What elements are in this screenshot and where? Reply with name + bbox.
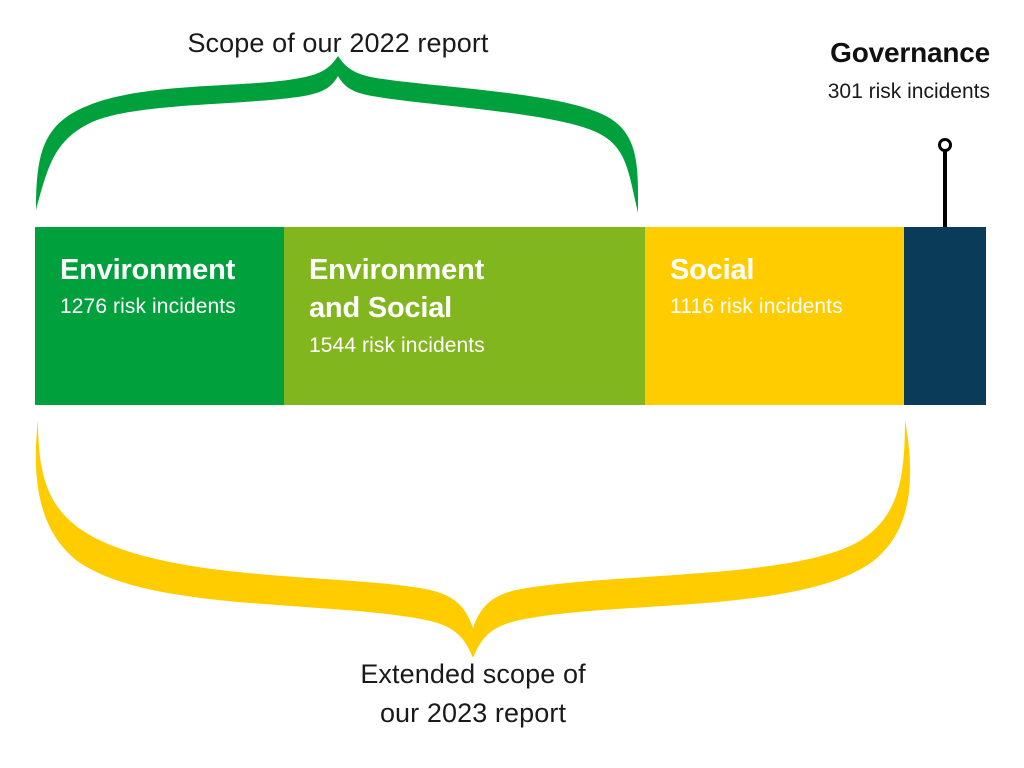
bar-segment-environment[interactable]: Environment 1276 risk incidents — [35, 227, 284, 405]
bar-segment-social[interactable]: Social 1116 risk incidents — [645, 227, 904, 405]
stacked-bar: Environment 1276 risk incidents Environm… — [35, 227, 986, 405]
segment-title: Environment — [60, 251, 284, 289]
bar-segment-governance[interactable] — [904, 227, 986, 405]
scope-label-2023: Extended scope of our 2023 report — [170, 655, 776, 733]
yellow-brace-2023 — [36, 420, 910, 658]
segment-value: 1276 risk incidents — [60, 293, 284, 320]
infographic-canvas: Scope of our 2022 report Governance 301 … — [0, 0, 1024, 768]
governance-subtitle: 301 risk incidents — [828, 78, 990, 105]
segment-value: 1116 risk incidents — [670, 293, 904, 320]
bar-segment-environment-and-social[interactable]: Environment and Social 1544 risk inciden… — [284, 227, 645, 405]
governance-title: Governance — [828, 36, 990, 70]
segment-title: Social — [670, 251, 904, 289]
green-brace-2022 — [36, 56, 638, 213]
scope-label-2022: Scope of our 2022 report — [0, 24, 676, 63]
segment-value: 1544 risk incidents — [309, 332, 645, 359]
segment-title: Environment and Social — [309, 251, 645, 328]
governance-callout: Governance 301 risk incidents — [828, 36, 990, 105]
